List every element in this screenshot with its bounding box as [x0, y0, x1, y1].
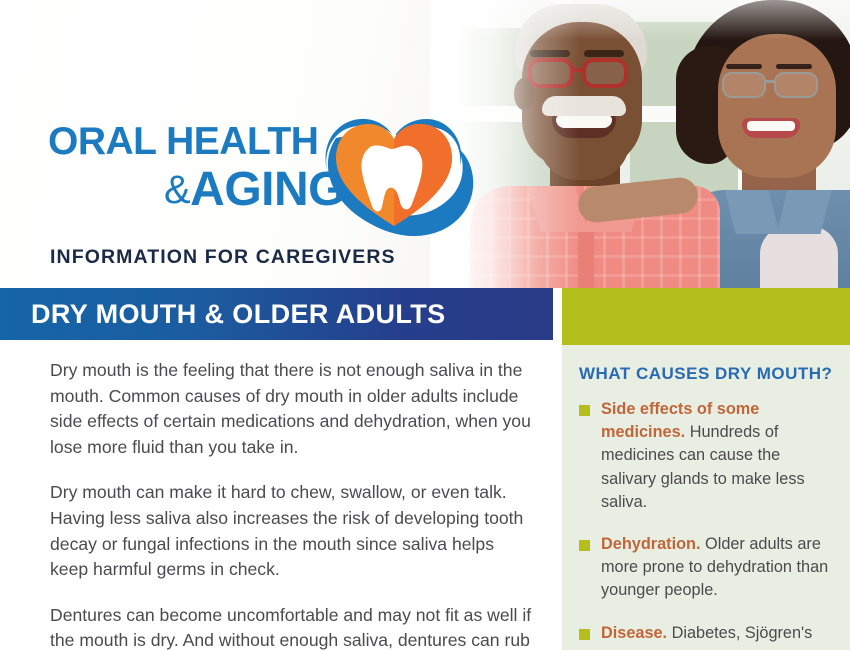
bullet-square-icon [579, 629, 590, 640]
woman-eyebrow-right [776, 64, 812, 69]
man-eyeglass-lens-right [582, 58, 628, 88]
body-paragraph: Dry mouth can make it hard to chew, swal… [50, 480, 537, 582]
logo-ampersand: & [164, 168, 190, 212]
logo-line-oral-health: ORAL HEALTH [48, 120, 348, 164]
body-paragraph: Dentures can become uncomfortable and ma… [50, 603, 537, 650]
logo-tagline: INFORMATION FOR CAREGIVERS [50, 246, 396, 269]
section-title: DRY MOUTH & OLDER ADULTS [0, 299, 446, 330]
main-body-text: Dry mouth is the feeling that there is n… [50, 358, 537, 650]
list-item: Dehydration. Older adults are more prone… [579, 533, 836, 603]
woman-eyeglass-lens-right [774, 72, 818, 98]
causes-list: Side effects of some medicines. Hundreds… [562, 398, 850, 645]
sidebar-color-band [562, 288, 850, 345]
bullet-square-icon [579, 405, 590, 416]
man-eyebrow-right [584, 50, 624, 57]
heart-tooth-logo-icon [310, 108, 480, 240]
list-item-lead: Dehydration. [601, 535, 701, 553]
page-root: ORAL HEALTH &AGING INFORMATION FOR CAREG… [0, 0, 850, 650]
sidebar-panel: WHAT CAUSES DRY MOUTH? Side effects of s… [562, 345, 850, 650]
woman-teeth [747, 121, 795, 131]
couple-photo [430, 0, 850, 288]
bullet-square-icon [579, 540, 590, 551]
logo-line-aging: &AGING [48, 164, 345, 216]
sidebar-heading: WHAT CAUSES DRY MOUTH? [579, 364, 850, 384]
body-paragraph: Dry mouth is the feeling that there is n… [50, 358, 537, 460]
list-item-rest: Diabetes, Sjögren's [667, 624, 812, 642]
section-title-bar: DRY MOUTH & OLDER ADULTS [0, 288, 553, 340]
list-item: Disease. Diabetes, Sjögren's [579, 622, 836, 645]
header-banner: ORAL HEALTH &AGING INFORMATION FOR CAREG… [0, 0, 850, 288]
woman-eyebrow-left [726, 64, 762, 69]
woman-tee [760, 226, 838, 288]
list-item-lead: Disease. [601, 624, 667, 642]
woman-eyeglass-lens-left [722, 72, 766, 98]
logo-wordmark: ORAL HEALTH &AGING [48, 120, 348, 216]
logo-lockup: ORAL HEALTH &AGING INFORMATION FOR CAREG… [48, 120, 448, 280]
woman-eyeglass-bridge [766, 80, 774, 83]
list-item: Side effects of some medicines. Hundreds… [579, 398, 836, 514]
woman-face [718, 34, 836, 178]
